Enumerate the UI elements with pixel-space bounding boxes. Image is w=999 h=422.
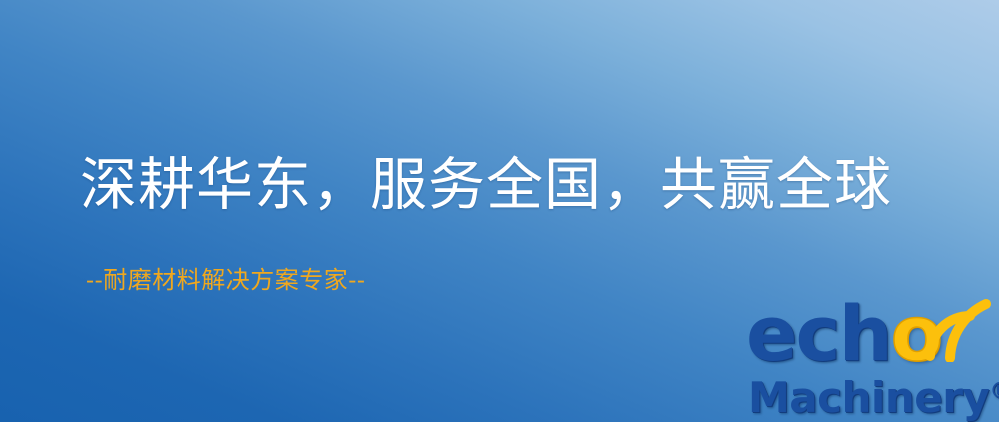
promotional-banner: 深耕华东，服务全国，共赢全球 --耐磨材料解决方案专家-- echo Machi… <box>0 0 999 422</box>
registered-trademark-icon: ® <box>989 379 999 404</box>
logo-wordmark-blue-text: ech <box>746 289 891 378</box>
logo-wordmark: echo <box>746 292 941 376</box>
echo-wave-arcs-icon <box>920 294 996 362</box>
logo-subword: Machinery® <box>748 368 999 422</box>
logo-subword-text: Machinery <box>748 373 989 422</box>
banner-headline: 深耕华东，服务全国，共赢全球 <box>80 152 892 218</box>
banner-subtitle: --耐磨材料解决方案专家-- <box>86 264 365 296</box>
company-logo[interactable]: echo Machinery® <box>742 292 999 422</box>
